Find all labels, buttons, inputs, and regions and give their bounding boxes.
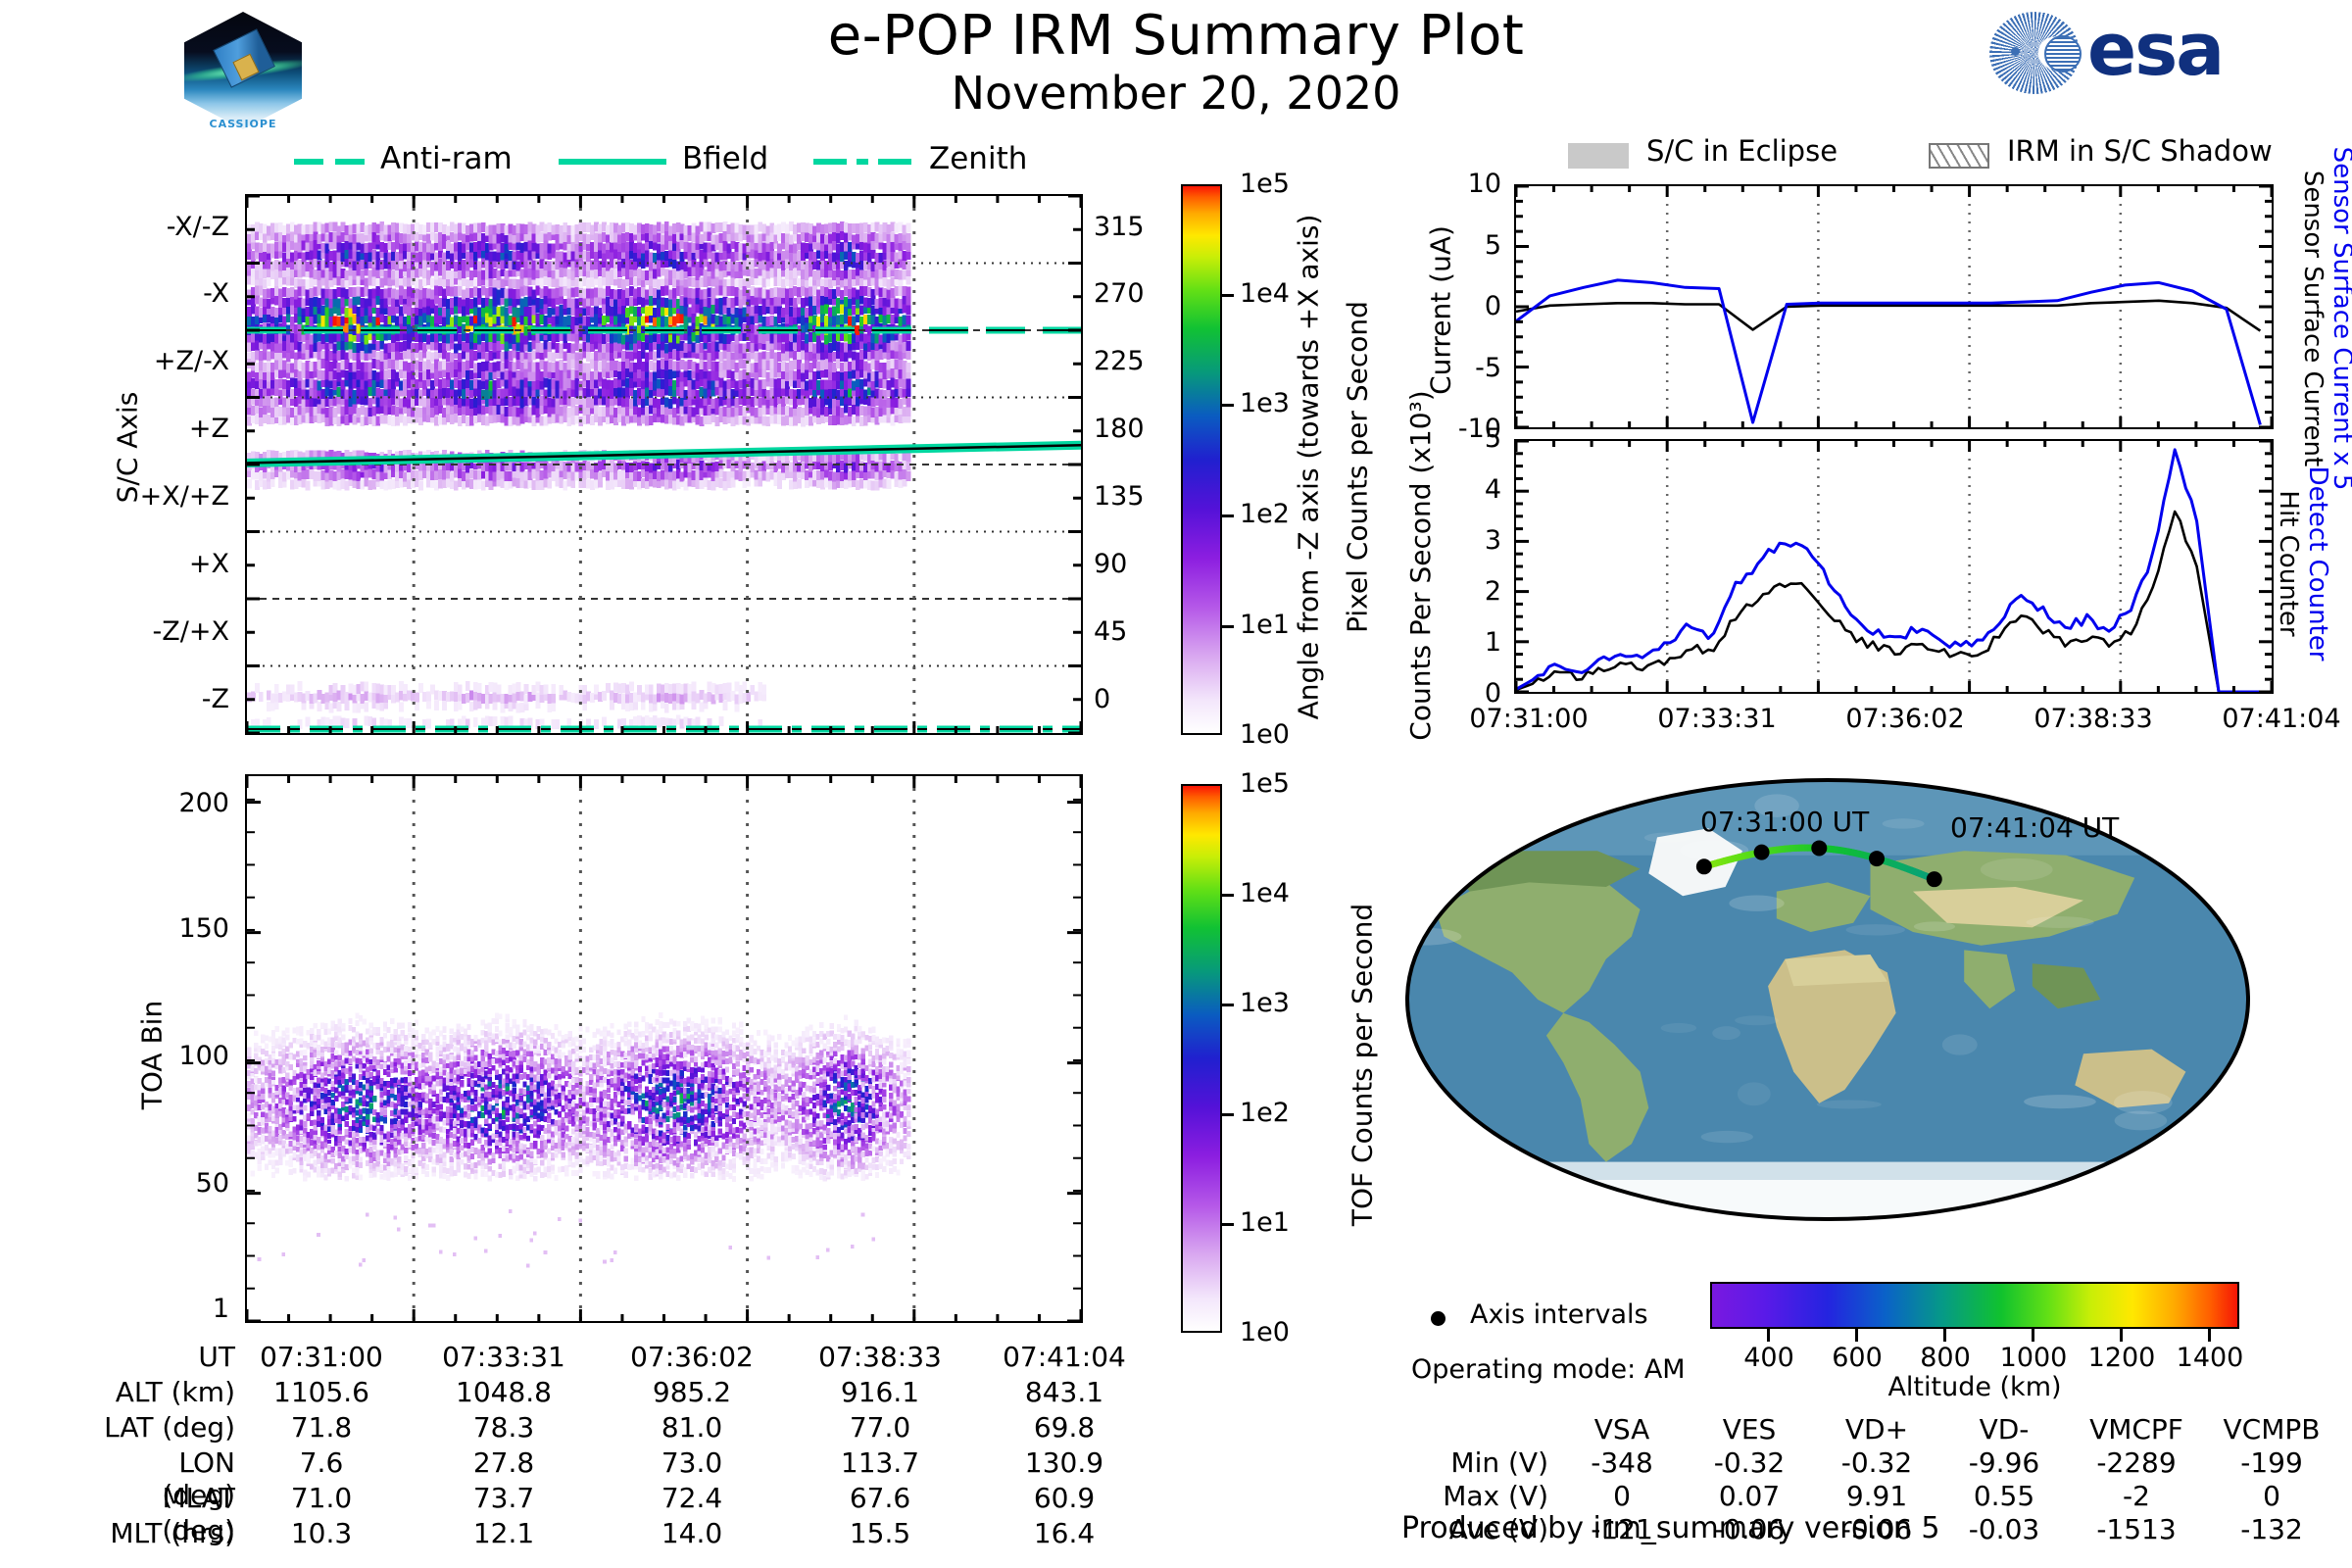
alt-tick: 600 bbox=[1820, 1343, 1894, 1373]
legend-zenith-swatch3 bbox=[878, 159, 911, 165]
cell-lon: 113.7 bbox=[792, 1446, 968, 1479]
cbar-tick: 1e0 bbox=[1240, 1317, 1290, 1347]
produced-by-label: Produced by irm_summary version 5 bbox=[1401, 1511, 1939, 1545]
ytick-label: -Z bbox=[202, 684, 229, 714]
ytick-right-label: 225 bbox=[1094, 346, 1145, 376]
counts-right-label-blue: Detect Counter bbox=[2303, 416, 2332, 710]
cell-mlt: 16.4 bbox=[976, 1517, 1152, 1549]
xtick-label: 07:33:31 bbox=[1619, 704, 1815, 734]
col-header: VD+ bbox=[1813, 1413, 1940, 1445]
cell-lon: 7.6 bbox=[233, 1446, 410, 1479]
cbar-tick: 1e4 bbox=[1240, 878, 1290, 908]
ytick-label: +Z bbox=[189, 414, 229, 444]
cell-ut: 07:31:00 bbox=[233, 1341, 410, 1373]
cell-alt: 985.2 bbox=[604, 1376, 780, 1408]
col-header: VCMPB bbox=[2203, 1413, 2340, 1445]
cell-alt: 916.1 bbox=[792, 1376, 968, 1408]
cell: -199 bbox=[2203, 1446, 2340, 1479]
esa-logo-text: esa bbox=[2087, 14, 2223, 86]
alt-tick: 1400 bbox=[2167, 1343, 2253, 1373]
xtick-label: 07:38:33 bbox=[1995, 704, 2191, 734]
cbar-tick: 1e2 bbox=[1240, 1098, 1290, 1128]
ytick-label: 100 bbox=[178, 1041, 229, 1071]
cell: -9.96 bbox=[1940, 1446, 2068, 1479]
cell-mlat: 60.9 bbox=[976, 1482, 1152, 1514]
counts-canvas bbox=[1516, 441, 2272, 692]
cell-mlt: 10.3 bbox=[233, 1517, 410, 1549]
toa-bin-canvas bbox=[247, 776, 1081, 1321]
legend-antiram-label: Anti-ram bbox=[380, 141, 513, 176]
legend-bfield-label: Bfield bbox=[682, 141, 768, 176]
ytick-label: 4 bbox=[1485, 474, 1501, 505]
cell-alt: 1105.6 bbox=[233, 1376, 410, 1408]
legend-zenith-swatch2 bbox=[857, 159, 868, 165]
cbar-tick: 1e3 bbox=[1240, 388, 1290, 418]
sc-axis-ytick-labels: -X/-Z -X +Z/-X +Z +X/+Z +X -Z/+X -Z bbox=[98, 194, 235, 735]
cbar-tick: 1e5 bbox=[1240, 169, 1290, 199]
toa-ytick-labels: 200 150 100 50 1 bbox=[127, 774, 235, 1323]
ytick-label: -X bbox=[203, 278, 229, 309]
cell-mlat: 73.7 bbox=[416, 1482, 592, 1514]
cell: -0.32 bbox=[1813, 1446, 1940, 1479]
counts-right-label-black: Hit Counter bbox=[2274, 416, 2303, 710]
cbar-tick: 1e0 bbox=[1240, 719, 1290, 750]
eclipse-shadow-legend: S/C in Eclipse IRM in S/C Shadow bbox=[1568, 137, 2352, 178]
cell-mlt: 14.0 bbox=[604, 1517, 780, 1549]
altitude-colorbar bbox=[1710, 1282, 2239, 1329]
ytick-label: 2 bbox=[1485, 576, 1501, 607]
shadow-legend-label: IRM in S/C Shadow bbox=[2007, 134, 2273, 168]
legend-antiram-swatch bbox=[294, 159, 323, 165]
alt-tick: 400 bbox=[1732, 1343, 1806, 1373]
sc-axis-legend: Anti-ram Bfield Zenith bbox=[294, 145, 1039, 184]
cell-lon: 130.9 bbox=[976, 1446, 1152, 1479]
eclipse-swatch bbox=[1568, 143, 1629, 169]
cassiope-logo-label: CASSIOPE bbox=[178, 118, 308, 130]
ytick-right-label: 270 bbox=[1094, 278, 1145, 309]
ytick-label: -Z/+X bbox=[153, 616, 229, 647]
cell-lat: 69.8 bbox=[976, 1411, 1152, 1444]
cell-ut: 07:36:02 bbox=[604, 1341, 780, 1373]
cell: -0.03 bbox=[1940, 1513, 2068, 1545]
tof-counts-colorbar bbox=[1181, 784, 1222, 1333]
ytick-label: 5 bbox=[1485, 423, 1501, 454]
axis-intervals-label: Axis intervals bbox=[1470, 1299, 1648, 1330]
cell-lat: 78.3 bbox=[416, 1411, 592, 1444]
shadow-swatch bbox=[1929, 143, 1989, 169]
xtick-label: 07:31:00 bbox=[1431, 704, 1627, 734]
ytick-label: 5 bbox=[1485, 230, 1501, 261]
ytick-label: 0 bbox=[1485, 291, 1501, 321]
counts-xtick-labels: 07:31:00 07:33:31 07:36:02 07:38:33 07:4… bbox=[1392, 704, 2352, 743]
row-label: Max (V) bbox=[1401, 1480, 1548, 1512]
col-header: VD- bbox=[1940, 1413, 2068, 1445]
ephemeris-table: UT ALT (km) LAT (deg) LON (deg) MLAT (de… bbox=[98, 1341, 1156, 1527]
tof-counts-colorbar-label: TOF Counts per Second bbox=[1347, 830, 1379, 1300]
cell-lat: 81.0 bbox=[604, 1411, 780, 1444]
cell: -348 bbox=[1558, 1446, 1686, 1479]
cell-alt: 843.1 bbox=[976, 1376, 1152, 1408]
row-label: LAT (deg) bbox=[98, 1411, 235, 1444]
sc-axis-spectrogram-canvas bbox=[247, 196, 1081, 733]
alt-tick: 800 bbox=[1908, 1343, 1983, 1373]
ytick-label: 150 bbox=[178, 913, 229, 944]
pixel-counts-colorbar-ticks: 1e5 1e4 1e3 1e2 1e1 1e0 bbox=[1222, 184, 1359, 735]
row-label: ALT (km) bbox=[98, 1376, 235, 1408]
row-label: MLT (hrs) bbox=[98, 1517, 235, 1549]
legend-zenith-label: Zenith bbox=[929, 141, 1027, 176]
orbit-start-label: 07:31:00 UT bbox=[1700, 806, 1869, 838]
col-header: VMCPF bbox=[2068, 1413, 2205, 1445]
ytick-right-label: 90 bbox=[1094, 549, 1127, 579]
pixel-counts-colorbar bbox=[1181, 184, 1222, 735]
ytick-right-label: 135 bbox=[1094, 481, 1145, 512]
alt-tick: 1200 bbox=[2079, 1343, 2165, 1373]
cell-ut: 07:41:04 bbox=[976, 1341, 1152, 1373]
row-label: Min (V) bbox=[1401, 1446, 1548, 1479]
axis-interval-dot-icon bbox=[1431, 1311, 1445, 1326]
ytick-right-label: 180 bbox=[1094, 414, 1145, 444]
cell-ut: 07:33:31 bbox=[416, 1341, 592, 1373]
cbar-tick: 1e3 bbox=[1240, 988, 1290, 1018]
cell-mlat: 72.4 bbox=[604, 1482, 780, 1514]
ytick-label: 1 bbox=[213, 1294, 229, 1324]
cell-mlat: 67.6 bbox=[792, 1482, 968, 1514]
cell-mlat: 71.0 bbox=[233, 1482, 410, 1514]
cbar-tick: 1e5 bbox=[1240, 768, 1290, 799]
cell-mlt: 12.1 bbox=[416, 1517, 592, 1549]
operating-mode-label: Operating mode: AM bbox=[1411, 1354, 1686, 1385]
row-label: UT bbox=[98, 1341, 235, 1373]
ytick-label: 3 bbox=[1485, 525, 1501, 556]
cell-ut: 07:38:33 bbox=[792, 1341, 968, 1373]
cbar-tick: 1e1 bbox=[1240, 1207, 1290, 1238]
tof-counts-colorbar-ticks: 1e5 1e4 1e3 1e2 1e1 1e0 bbox=[1222, 784, 1359, 1333]
ytick-label: -5 bbox=[1475, 353, 1501, 383]
cell: -1513 bbox=[2068, 1513, 2205, 1545]
altitude-colorbar-label: Altitude (km) bbox=[1710, 1372, 2239, 1402]
sc-axis-right-ytick-labels: 315 270 225 180 135 90 45 0 bbox=[1088, 194, 1196, 735]
xtick-label: 07:36:02 bbox=[1807, 704, 2003, 734]
orbit-end-label: 07:41:04 UT bbox=[1950, 811, 2119, 844]
pixel-counts-colorbar-label: Pixel Counts per Second bbox=[1342, 232, 1374, 703]
ytick-label: +X/+Z bbox=[140, 481, 229, 512]
legend-bfield-swatch bbox=[559, 159, 666, 165]
xtick-label: 07:41:04 bbox=[2183, 704, 2352, 734]
esa-logo: esa bbox=[1989, 8, 2313, 98]
ytick-label: +X bbox=[189, 549, 229, 579]
cell: 0.07 bbox=[1686, 1480, 1813, 1512]
ytick-label: 50 bbox=[196, 1168, 229, 1199]
cell: -0.32 bbox=[1686, 1446, 1813, 1479]
cell: 0.55 bbox=[1940, 1480, 2068, 1512]
ytick-label: -X/-Z bbox=[167, 212, 229, 242]
legend-zenith-swatch bbox=[813, 159, 847, 165]
ytick-right-label: 315 bbox=[1094, 212, 1145, 242]
cell: -2 bbox=[2068, 1480, 2205, 1512]
ytick-label: 1 bbox=[1485, 627, 1501, 658]
current-canvas bbox=[1516, 186, 2272, 427]
cell-lon: 27.8 bbox=[416, 1446, 592, 1479]
cell-lon: 73.0 bbox=[604, 1446, 780, 1479]
ytick-right-label: 0 bbox=[1094, 684, 1110, 714]
ytick-label: 200 bbox=[178, 788, 229, 818]
cell-alt: 1048.8 bbox=[416, 1376, 592, 1408]
cell-lat: 77.0 bbox=[792, 1411, 968, 1444]
alt-tick: 1000 bbox=[1990, 1343, 2077, 1373]
ground-track-map bbox=[1401, 774, 2254, 1225]
legend-antiram-swatch2 bbox=[335, 159, 365, 165]
cell: 0 bbox=[2203, 1480, 2340, 1512]
col-header: VSA bbox=[1558, 1413, 1686, 1445]
cell: -2289 bbox=[2068, 1446, 2205, 1479]
cbar-tick: 1e4 bbox=[1240, 278, 1290, 309]
counts-ytick-labels: 5 4 3 2 1 0 bbox=[1421, 439, 1509, 694]
ytick-right-label: 45 bbox=[1094, 616, 1127, 647]
ytick-label: +Z/-X bbox=[154, 346, 229, 376]
cell: -132 bbox=[2203, 1513, 2340, 1545]
cell: 0 bbox=[1558, 1480, 1686, 1512]
eclipse-legend-label: S/C in Eclipse bbox=[1646, 134, 1837, 168]
cell: 9.91 bbox=[1813, 1480, 1940, 1512]
cell-lat: 71.8 bbox=[233, 1411, 410, 1444]
cell-mlt: 15.5 bbox=[792, 1517, 968, 1549]
cassiope-mission-logo: CASSIOPE bbox=[178, 6, 308, 135]
col-header: VES bbox=[1686, 1413, 1813, 1445]
ytick-label: 10 bbox=[1468, 169, 1501, 199]
